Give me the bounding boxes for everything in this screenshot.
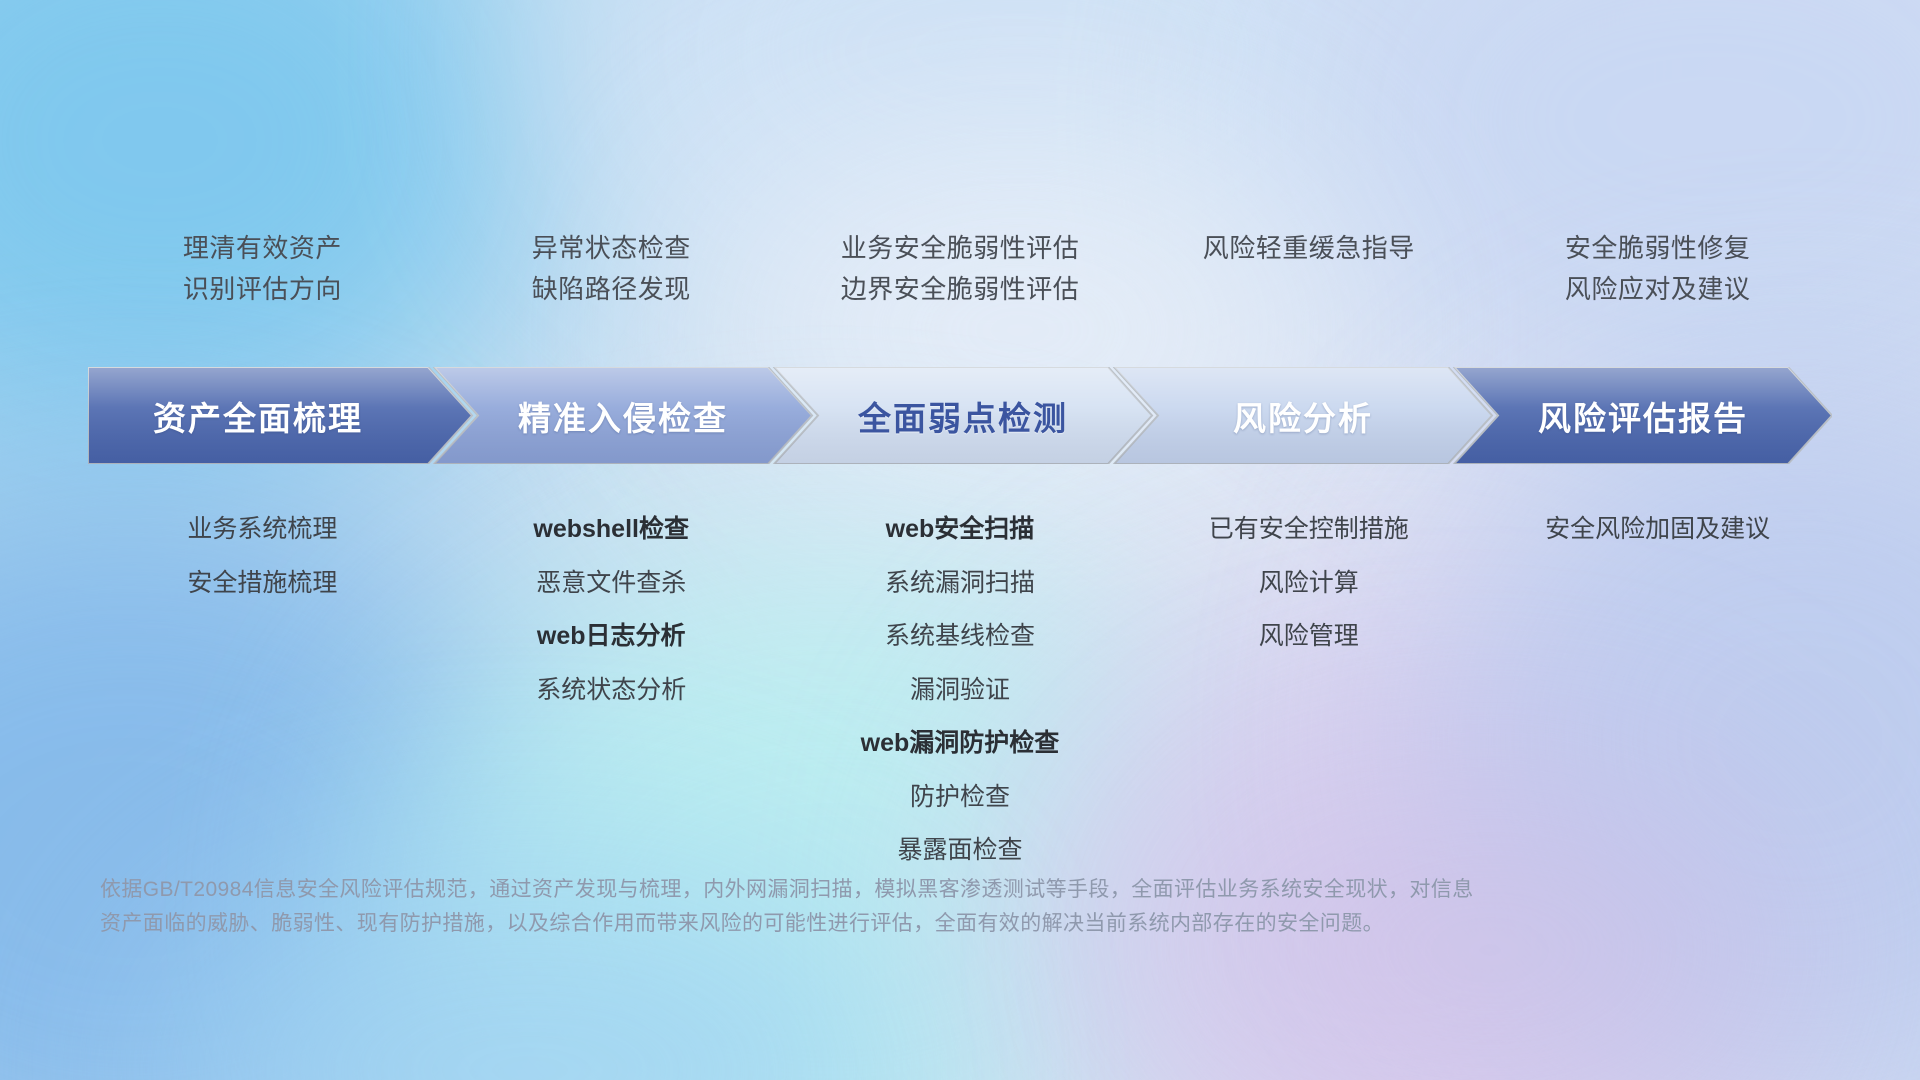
- input-label: 业务安全脆弱性评估: [786, 228, 1135, 269]
- footer-line-1: 依据GB/T20984信息安全风险评估规范，通过资产发现与梳理，内外网漏洞扫描，…: [100, 873, 1660, 907]
- background-blob: [700, 120, 1340, 540]
- output-label: web安全扫描: [786, 510, 1135, 550]
- chevron-label-intrusion-check[interactable]: 精准入侵检查: [478, 367, 768, 464]
- output-label: 漏洞验证: [786, 671, 1135, 711]
- output-label: 系统基线检查: [786, 617, 1135, 657]
- stage-outputs-risk-analysis: 已有安全控制措施风险计算风险管理: [1134, 510, 1483, 885]
- output-label: 风险计算: [1134, 564, 1483, 604]
- stage-inputs-intrusion-check: 异常状态检查 缺陷路径发现: [437, 228, 786, 310]
- output-label: 已有安全控制措施: [1134, 510, 1483, 550]
- diagram-canvas: 理清有效资产 识别评估方向 异常状态检查 缺陷路径发现 业务安全脆弱性评估 边界…: [0, 0, 1920, 1080]
- output-label: 业务系统梳理: [88, 510, 437, 550]
- chevron-label-risk-analysis[interactable]: 风险分析: [1158, 367, 1448, 464]
- stage-outputs-weakness-detection: web安全扫描系统漏洞扫描系统基线检查漏洞验证web漏洞防护检查防护检查暴露面检…: [786, 510, 1135, 885]
- output-label: 暴露面检查: [786, 831, 1135, 871]
- input-label: 缺陷路径发现: [437, 269, 786, 310]
- output-label: 安全措施梳理: [88, 564, 437, 604]
- stage-outputs-row: 业务系统梳理安全措施梳理 webshell检查恶意文件查杀web日志分析系统状态…: [88, 510, 1832, 885]
- input-label: 识别评估方向: [88, 269, 437, 310]
- output-label: webshell检查: [437, 510, 786, 550]
- chevron-label-weakness-detection[interactable]: 全面弱点检测: [818, 367, 1108, 464]
- stage-outputs-assessment-report: 安全风险加固及建议: [1483, 510, 1832, 885]
- stage-inputs-row: 理清有效资产 识别评估方向 异常状态检查 缺陷路径发现 业务安全脆弱性评估 边界…: [88, 228, 1832, 310]
- stage-inputs-weakness-detection: 业务安全脆弱性评估 边界安全脆弱性评估: [786, 228, 1135, 310]
- footer-line-2: 资产面临的威胁、脆弱性、现有防护措施，以及综合作用而带来风险的可能性进行评估，全…: [100, 907, 1660, 941]
- input-label: 风险应对及建议: [1483, 269, 1832, 310]
- input-label: 边界安全脆弱性评估: [786, 269, 1135, 310]
- stage-outputs-asset-inventory: 业务系统梳理安全措施梳理: [88, 510, 437, 885]
- stage-inputs-assessment-report: 安全脆弱性修复 风险应对及建议: [1483, 228, 1832, 310]
- output-label: 防护检查: [786, 778, 1135, 818]
- input-label: 理清有效资产: [88, 228, 437, 269]
- input-label: 异常状态检查: [437, 228, 786, 269]
- stage-inputs-risk-analysis: 风险轻重缓急指导: [1134, 228, 1483, 310]
- chevron-label-assessment-report[interactable]: 风险评估报告: [1498, 367, 1788, 464]
- output-label: 安全风险加固及建议: [1483, 510, 1832, 550]
- output-label: web日志分析: [437, 617, 786, 657]
- chevron-label-asset-inventory[interactable]: 资产全面梳理: [88, 367, 428, 464]
- process-chevron-banner: 资产全面梳理 精准入侵检查 全面弱点检测 风险分析 风险评估报告: [88, 367, 1832, 464]
- footer-note: 依据GB/T20984信息安全风险评估规范，通过资产发现与梳理，内外网漏洞扫描，…: [100, 873, 1660, 941]
- output-label: 恶意文件查杀: [437, 564, 786, 604]
- input-label: 安全脆弱性修复: [1483, 228, 1832, 269]
- stage-inputs-asset-inventory: 理清有效资产 识别评估方向: [88, 228, 437, 310]
- output-label: 系统状态分析: [437, 671, 786, 711]
- stage-outputs-intrusion-check: webshell检查恶意文件查杀web日志分析系统状态分析: [437, 510, 786, 885]
- output-label: 风险管理: [1134, 617, 1483, 657]
- output-label: web漏洞防护检查: [786, 724, 1135, 764]
- input-label: 风险轻重缓急指导: [1134, 228, 1483, 269]
- output-label: 系统漏洞扫描: [786, 564, 1135, 604]
